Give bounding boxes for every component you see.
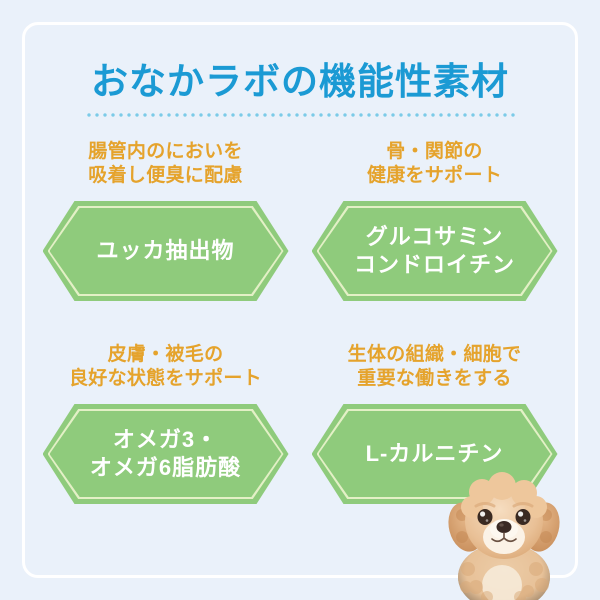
title-block: おなかラボの機能性素材 xyxy=(0,60,600,117)
feature-cell-omega: 皮膚・被毛の 良好な状態をサポート オメガ3・ オメガ6脂肪酸 xyxy=(38,343,293,530)
infographic-page: おなかラボの機能性素材 腸管内のにおいを 吸着し便臭に配慮 ユッカ抽出物 骨・関… xyxy=(0,0,600,600)
feature-badge: ユッカ抽出物 xyxy=(43,201,289,301)
badge-line: L-カルニチン xyxy=(366,440,504,468)
feature-caption: 腸管内のにおいを 吸着し便臭に配慮 xyxy=(88,140,242,188)
badge-label: グルコサミン コンドロイチン xyxy=(312,201,558,301)
badge-line: ユッカ抽出物 xyxy=(96,237,234,265)
caption-line: 重要な働きをする xyxy=(348,367,522,391)
badge-label: オメガ3・ オメガ6脂肪酸 xyxy=(43,404,289,504)
feature-caption: 生体の組織・細胞で 重要な働きをする xyxy=(348,343,522,391)
badge-line: オメガ3・ xyxy=(113,426,218,454)
feature-badge: オメガ3・ オメガ6脂肪酸 xyxy=(43,404,289,504)
badge-label: ユッカ抽出物 xyxy=(43,201,289,301)
caption-line: 腸管内のにおいを xyxy=(88,140,242,164)
feature-cell-yucca: 腸管内のにおいを 吸着し便臭に配慮 ユッカ抽出物 xyxy=(38,140,293,327)
caption-line: 皮膚・被毛の xyxy=(69,343,262,367)
badge-line: グルコサミン xyxy=(366,223,504,251)
page-title: おなかラボの機能性素材 xyxy=(0,60,600,104)
puppy-photo xyxy=(432,465,582,600)
caption-line: 健康をサポート xyxy=(367,164,502,188)
badge-line: コンドロイチン xyxy=(354,251,515,279)
feature-cell-glucosamine: 骨・関節の 健康をサポート グルコサミン コンドロイチン xyxy=(307,140,562,327)
title-dotted-rule xyxy=(85,113,515,117)
caption-line: 良好な状態をサポート xyxy=(69,367,262,391)
feature-caption: 皮膚・被毛の 良好な状態をサポート xyxy=(69,343,262,391)
badge-line: オメガ6脂肪酸 xyxy=(90,454,241,482)
feature-badge: グルコサミン コンドロイチン xyxy=(312,201,558,301)
caption-line: 吸着し便臭に配慮 xyxy=(88,164,242,188)
feature-caption: 骨・関節の 健康をサポート xyxy=(367,140,502,188)
caption-line: 骨・関節の xyxy=(367,140,502,164)
caption-line: 生体の組織・細胞で xyxy=(348,343,522,367)
